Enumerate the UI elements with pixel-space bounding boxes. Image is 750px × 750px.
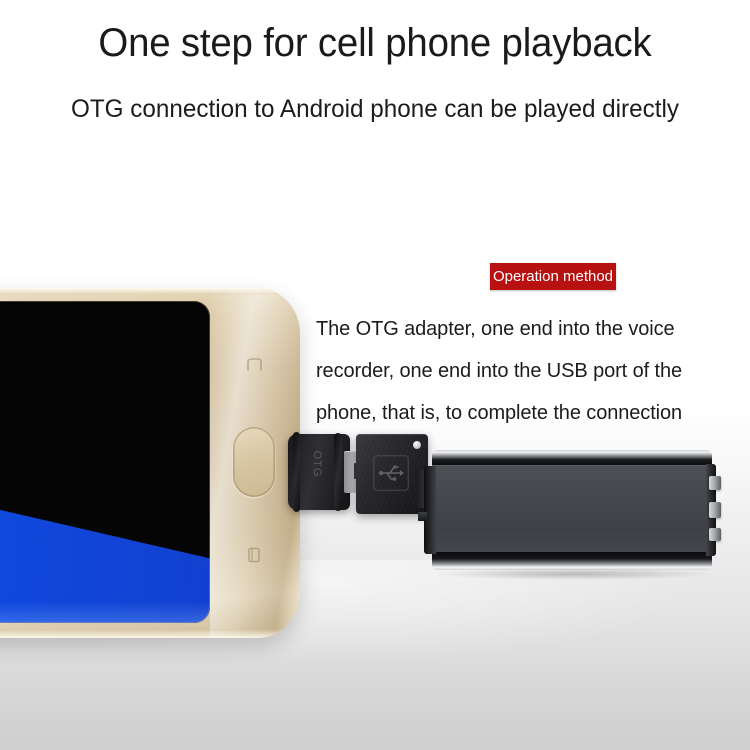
description-line-3: phone, that is, to complete the connecti… xyxy=(316,392,746,434)
recorder-side-button-3[interactable] xyxy=(709,528,721,541)
phone-wallpaper xyxy=(0,453,210,623)
phone-wallpaper-glow xyxy=(0,601,210,623)
page-title: One step for cell phone playback xyxy=(15,19,735,67)
otg-adapter-ring-left xyxy=(293,432,300,512)
recorder-body xyxy=(432,465,712,556)
usb-connector-indicator xyxy=(413,441,421,449)
recorder-top-edge xyxy=(432,450,712,466)
smartphone xyxy=(0,288,300,638)
recorder-left-cap xyxy=(424,466,436,554)
phone-top-edge xyxy=(0,288,300,295)
back-nav-icon[interactable] xyxy=(244,356,264,374)
recorder-side-button-2[interactable] xyxy=(709,502,721,518)
description-text: The OTG adapter, one end into the voice … xyxy=(316,308,746,434)
description-line-2: recorder, one end into the USB port of t… xyxy=(316,350,746,392)
product-banner: One step for cell phone playback OTG con… xyxy=(0,0,750,750)
recents-nav-icon[interactable] xyxy=(244,546,264,564)
recorder-shadow xyxy=(438,568,710,580)
page-subtitle: OTG connection to Android phone can be p… xyxy=(11,92,739,126)
status-badge: Operation method xyxy=(490,263,616,290)
phone-home-button[interactable] xyxy=(233,427,275,497)
phone-bottom-edge xyxy=(0,629,300,638)
status-badge-label: Operation method xyxy=(490,263,616,290)
recorder-side-button-1[interactable] xyxy=(709,476,721,490)
voice-recorder xyxy=(424,450,718,570)
otg-adapter: OTG xyxy=(288,434,362,510)
otg-adapter-ring-right xyxy=(334,433,342,511)
phone-screen xyxy=(0,301,210,623)
otg-adapter-label: OTG xyxy=(311,441,323,487)
description-line-1: The OTG adapter, one end into the voice xyxy=(316,308,746,350)
usb-trident-icon xyxy=(373,455,409,491)
recorder-left-pin xyxy=(418,512,427,521)
